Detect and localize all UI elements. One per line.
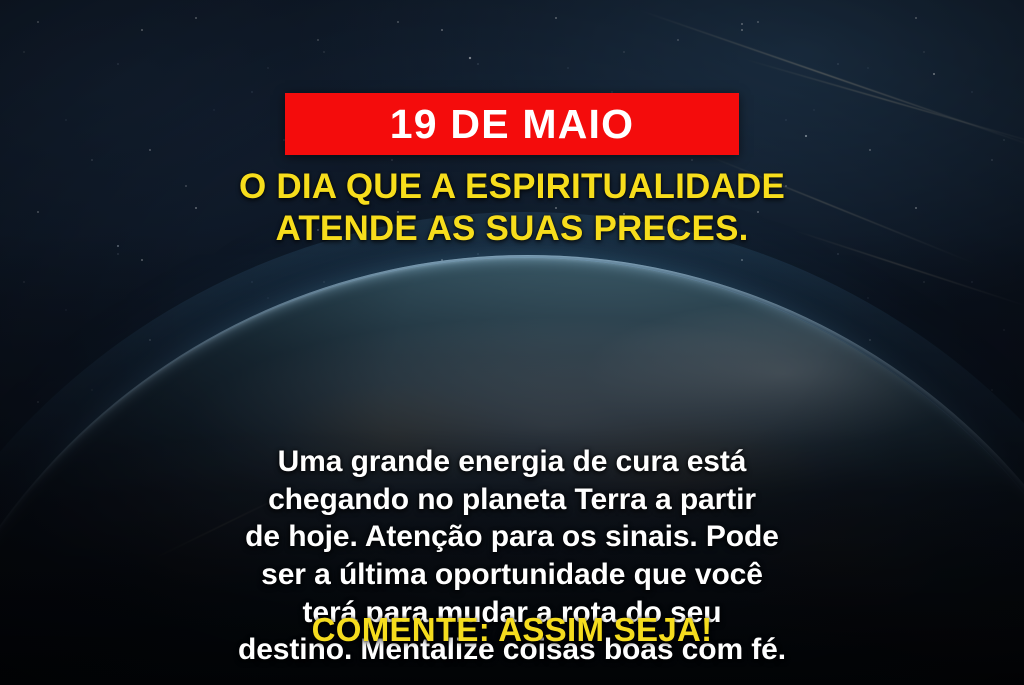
date-banner: 19 DE MAIO: [285, 93, 739, 155]
headline-line-1: O DIA QUE A ESPIRITUALIDADE: [0, 166, 1024, 208]
headline: O DIA QUE A ESPIRITUALIDADE ATENDE AS SU…: [0, 166, 1024, 249]
poster-content: 19 DE MAIO O DIA QUE A ESPIRITUALIDADE A…: [0, 0, 1024, 685]
body-line-1: Uma grande energia de cura está: [72, 443, 952, 481]
body-line-4: ser a última oportunidade que você: [72, 556, 952, 594]
body-line-2: chegando no planeta Terra a partir: [72, 481, 952, 519]
body-line-3: de hoje. Atenção para os sinais. Pode: [72, 518, 952, 556]
call-to-action-text: COMENTE: ASSIM SEJA!: [0, 612, 1024, 648]
headline-line-2: ATENDE AS SUAS PRECES.: [0, 208, 1024, 250]
date-banner-text: 19 DE MAIO: [390, 104, 634, 145]
social-post-poster: 19 DE MAIO O DIA QUE A ESPIRITUALIDADE A…: [0, 0, 1024, 685]
